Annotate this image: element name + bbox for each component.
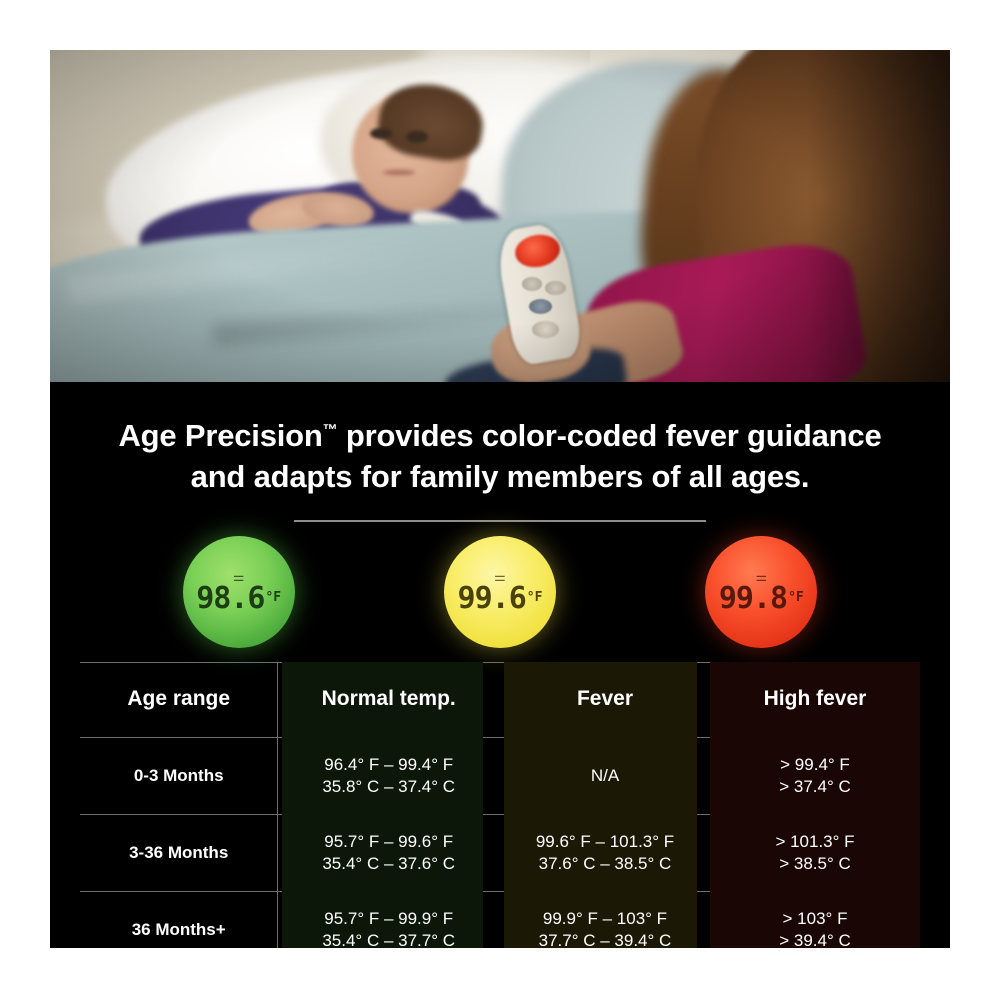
indicator-unit-high-fever: °F xyxy=(788,591,804,604)
headline-line-1: Age Precision™ provides color-coded feve… xyxy=(96,416,904,457)
cell-high-fever: > 103° F > 39.4° C xyxy=(710,891,920,948)
indicator-circle-normal: ⚌ 98.6 °F xyxy=(183,536,295,648)
table-header-row: Age range Normal temp. Fever High fever xyxy=(80,662,920,737)
cell-high-fever: > 101.3° F > 38.5° C xyxy=(710,814,920,891)
header-normal-temp: Normal temp. xyxy=(277,662,500,737)
cell-fever: N/A xyxy=(500,737,710,814)
header-high-fever: High fever xyxy=(710,662,920,737)
cell-normal-temp: 96.4° F – 99.4° F 35.8° C – 37.4° C xyxy=(277,737,500,814)
indicator-circle-fever: ⚌ 99.6 °F xyxy=(444,536,556,648)
table-row: 3-36 Months 95.7° F – 99.6° F 35.4° C – … xyxy=(80,814,920,891)
headline-brand: Age Precision xyxy=(118,418,322,453)
indicator-fever: ⚌ 99.6 °F xyxy=(444,536,556,648)
indicator-unit-fever: °F xyxy=(527,591,543,604)
headline-line-2: and adapts for family members of all age… xyxy=(96,457,904,498)
fever-guidance-table-wrap: Age range Normal temp. Fever High fever … xyxy=(80,662,920,948)
indicator-value-high-fever: 99.8 xyxy=(719,584,787,614)
cell-age-range: 3-36 Months xyxy=(80,814,277,891)
cell-age-range: 0-3 Months xyxy=(80,737,277,814)
headline-line-1-rest: provides color-coded fever guidance xyxy=(337,418,881,453)
table-row: 0-3 Months 96.4° F – 99.4° F 35.8° C – 3… xyxy=(80,737,920,814)
temperature-indicator-row: ⚌ 98.6 °F ⚌ 99.6 °F ⚌ xyxy=(50,522,950,658)
product-info-card: Age Precision™ provides color-coded feve… xyxy=(50,50,950,948)
indicator-circle-high-fever: ⚌ 99.8 °F xyxy=(705,536,817,648)
thermometer-icon: ⚌ xyxy=(233,570,245,583)
trademark-symbol: ™ xyxy=(323,422,338,439)
indicator-normal: ⚌ 98.6 °F xyxy=(183,536,295,648)
hero-photo xyxy=(50,50,950,382)
cell-age-range: 36 Months+ xyxy=(80,891,277,948)
indicator-value-normal: 98.6 xyxy=(196,584,264,614)
page-root: Age Precision™ provides color-coded feve… xyxy=(0,0,1000,1000)
headline-block: Age Precision™ provides color-coded feve… xyxy=(50,382,950,498)
header-fever: Fever xyxy=(500,662,710,737)
thermometer-icon: ⚌ xyxy=(494,570,506,583)
cell-normal-temp: 95.7° F – 99.6° F 35.4° C – 37.6° C xyxy=(277,814,500,891)
indicator-unit-normal: °F xyxy=(265,591,281,604)
table-row: 36 Months+ 95.7° F – 99.9° F 35.4° C – 3… xyxy=(80,891,920,948)
cell-high-fever: > 99.4° F > 37.4° C xyxy=(710,737,920,814)
photo-vignette xyxy=(50,50,950,382)
cell-fever: 99.9° F – 103° F 37.7° C – 39.4° C xyxy=(500,891,710,948)
thermometer-icon: ⚌ xyxy=(755,570,767,583)
indicator-readout-fever: 99.6 °F xyxy=(458,584,543,614)
indicator-readout-normal: 98.6 °F xyxy=(196,584,281,614)
indicator-readout-high-fever: 99.8 °F xyxy=(719,584,804,614)
indicator-value-fever: 99.6 xyxy=(458,584,526,614)
cell-normal-temp: 95.7° F – 99.9° F 35.4° C – 37.7° C xyxy=(277,891,500,948)
cell-fever: 99.6° F – 101.3° F 37.6° C – 38.5° C xyxy=(500,814,710,891)
header-age-range: Age range xyxy=(80,662,277,737)
indicator-high-fever: ⚌ 99.8 °F xyxy=(705,536,817,648)
fever-guidance-table: Age range Normal temp. Fever High fever … xyxy=(80,662,920,948)
